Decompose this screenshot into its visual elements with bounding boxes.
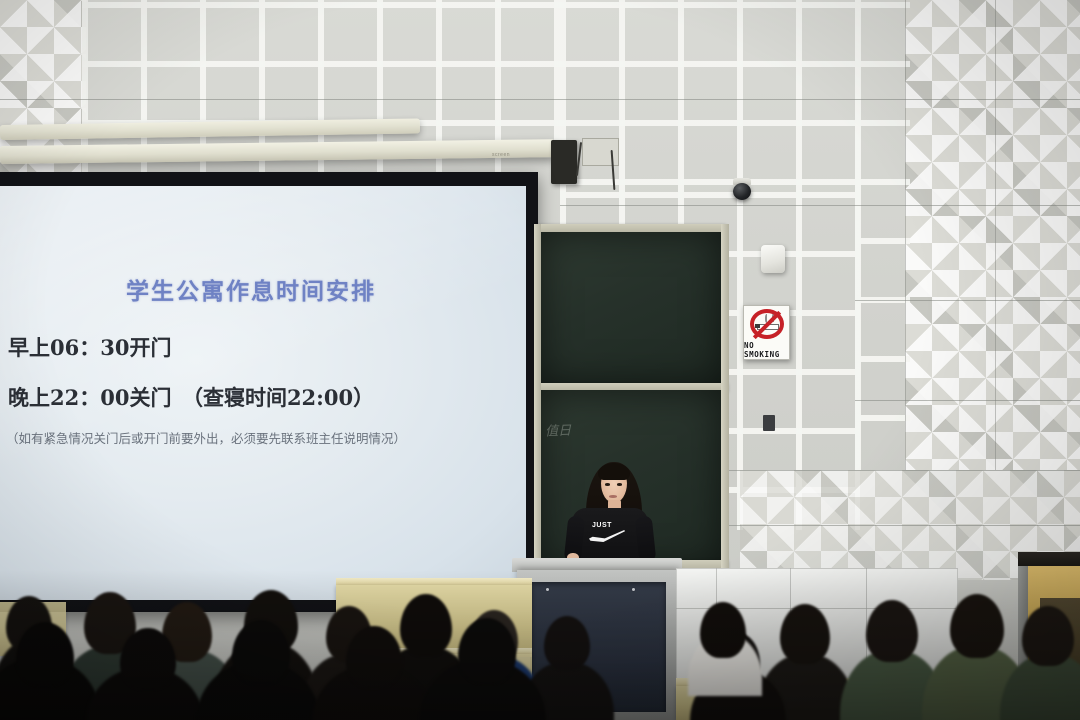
audience-head [866, 600, 918, 662]
audience-head [780, 604, 830, 664]
audience-head [120, 628, 176, 690]
slide-title: 学生公寓作息时间安排 [126, 272, 376, 306]
slide-line-morning: 早上06：30开门 [8, 332, 171, 362]
wall-seam-4 [855, 400, 1080, 401]
wall-seam-v-1 [905, 0, 906, 470]
chalkboard-writing: 值日 [545, 420, 572, 440]
wall-seam-6 [700, 525, 1080, 526]
slide-line-evening: 晚上22：00关门 （查寝时间22:00） [8, 382, 374, 412]
wall-seam-5 [700, 470, 1080, 471]
no-smoking-label: NO SMOKING [744, 341, 789, 359]
wall-seam-3 [855, 300, 1080, 301]
presenter-hair-front [598, 463, 630, 480]
chalkboard-upper [540, 232, 722, 384]
no-smoking-sign: NO SMOKING [743, 305, 790, 360]
wall-acoustic-panels-top-center [560, 0, 860, 200]
projector-mount-bracket [551, 140, 577, 184]
screen-housing-logo: screen [492, 152, 510, 158]
lecture-hall-photo: screen 学生公寓作息时间安排 早上06：30开门 晚上22：00关门 （查… [0, 0, 1080, 720]
audience-head [346, 626, 402, 688]
audience-head [544, 616, 590, 670]
presenter-eye-left [605, 483, 610, 486]
audience-head [1022, 606, 1074, 666]
audience-head [400, 594, 452, 656]
no-smoking-icon [750, 309, 784, 339]
wall-speaker-icon [761, 245, 785, 273]
wall-seam-2 [560, 205, 1080, 206]
wall-seam-v-2 [995, 0, 996, 470]
audience-area [0, 550, 1080, 720]
presenter-shirt-logo-word: JUST [592, 522, 612, 529]
slide-note: （如有紧急情况关门后或开门前要外出，必须要先联系班主任说明情况） [6, 428, 406, 447]
chalkboard-frame-left [534, 224, 541, 569]
security-camera-icon [733, 183, 751, 200]
audience-head [700, 602, 746, 658]
chalkboard-frame-right [721, 224, 729, 569]
wall-seam-1 [0, 99, 1080, 100]
audience-head [950, 594, 1004, 658]
wall-outlet-dark [763, 415, 775, 431]
audience-head [16, 622, 74, 686]
presenter-mouth [609, 495, 617, 498]
presenter-eye-right [617, 483, 622, 486]
